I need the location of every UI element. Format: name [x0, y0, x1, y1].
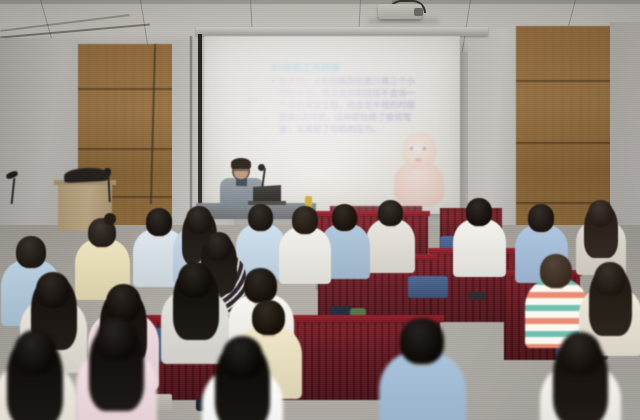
- presenter-microphone-icon: [258, 164, 265, 171]
- person-torso: [453, 219, 506, 277]
- screen-left-edge: [198, 34, 202, 220]
- person-head: [248, 204, 273, 231]
- person-head: [594, 262, 626, 296]
- slide-baby-photo: [390, 130, 452, 208]
- person-head: [588, 200, 613, 227]
- slide-title: 01改善工作环境: [272, 61, 340, 74]
- person-head: [16, 236, 46, 268]
- person-head: [146, 208, 172, 236]
- podium-microphone-icon: [104, 168, 111, 176]
- presenter-collar: [236, 178, 247, 186]
- slide-body-text: 在英国，从伯明翰到伦敦只需三个小时的车程，但公交公司往往不会派一个司机驾驶全程，…: [279, 75, 415, 135]
- slide-image-watermark: CD: [248, 98, 259, 104]
- person-head: [560, 332, 601, 375]
- screen-housing: [196, 27, 488, 36]
- person-head: [466, 198, 492, 226]
- person-head: [14, 330, 56, 375]
- person-head: [540, 254, 572, 288]
- person-head: [205, 232, 232, 261]
- person-head: [186, 206, 212, 234]
- person-head: [528, 204, 554, 232]
- person-hair-bun: [104, 213, 116, 225]
- wall-far-right: [610, 22, 640, 232]
- chair-center-aisle: [408, 276, 448, 298]
- person-torso: [366, 219, 415, 273]
- screen-side-cable: [190, 36, 192, 214]
- person-head: [96, 318, 137, 361]
- person-head: [222, 336, 263, 379]
- person-head: [178, 262, 212, 298]
- person-head: [332, 204, 357, 231]
- person-head: [378, 200, 403, 226]
- slide-bullet-icon: [272, 80, 275, 83]
- lecture-hall-photo: 01改善工作环境 在英国，从伯明翰到伦敦只需三个小时的车程，但公交公司往往不会派…: [0, 0, 640, 420]
- small-device-on-table: [468, 292, 486, 300]
- person-head: [244, 268, 277, 303]
- person-head: [292, 206, 318, 234]
- person-head: [400, 318, 444, 364]
- person-torso: [279, 227, 331, 284]
- table-top-back-center: [298, 211, 430, 216]
- person-head: [106, 284, 141, 322]
- person-head: [252, 300, 285, 335]
- projector-lens-icon: [414, 8, 423, 16]
- person-head: [36, 272, 70, 308]
- presenter-glasses-icon: [234, 169, 248, 171]
- presenter-hair: [231, 158, 251, 169]
